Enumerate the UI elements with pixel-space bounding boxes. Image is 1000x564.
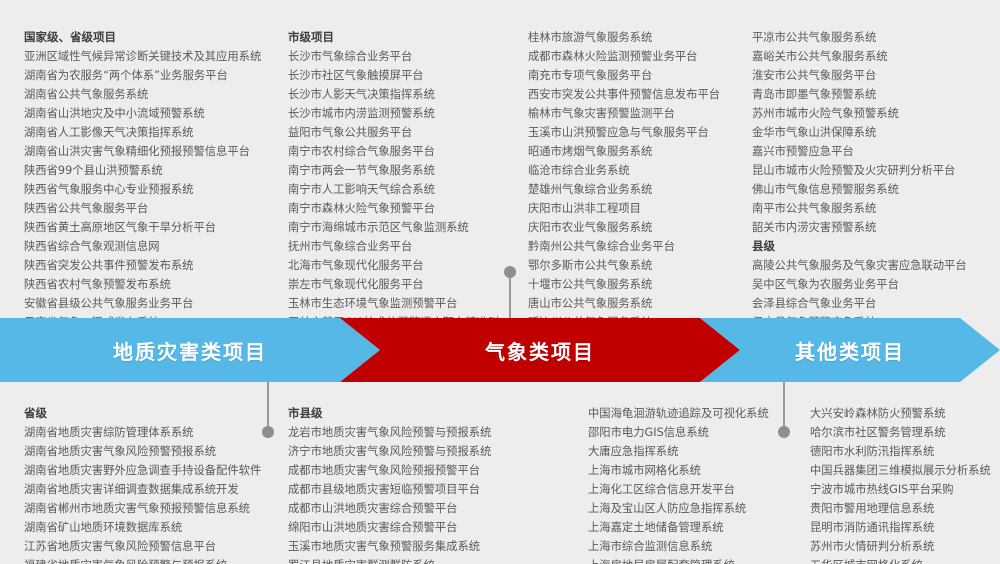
banner-segment-geological[interactable]: 地质灾害类项目 bbox=[0, 318, 380, 382]
list-item: 龙岩市地质灾害气象风险预警与预报系统 bbox=[288, 423, 554, 442]
list-item: 上海及宝山区人防应急指挥系统 bbox=[588, 499, 788, 518]
list-item: 南平市公共气象服务系统 bbox=[752, 199, 992, 218]
list-item: 庆阳市农业气象服务系统 bbox=[528, 218, 746, 237]
list-item: 淮安市公共气象服务平台 bbox=[752, 66, 992, 85]
list-item: 苏州市火情研判分析系统 bbox=[810, 537, 1000, 556]
list-item: 长沙市气象综合业务平台 bbox=[288, 47, 520, 66]
column-heading: 省级 bbox=[24, 404, 282, 423]
list-item: 青岛市即墨气象预警系统 bbox=[752, 85, 992, 104]
list-item: 玉溪市山洪预警应急与气象服务平台 bbox=[528, 123, 746, 142]
list-item: 楚雄州气象综合业务系统 bbox=[528, 180, 746, 199]
list-item: 湖南省人工影像天气决策指挥系统 bbox=[24, 123, 282, 142]
list-item: 会泽县综合气象业务平台 bbox=[752, 294, 992, 313]
list-item: 陕西省综合气象观测信息网 bbox=[24, 237, 282, 256]
list-item: 陕西省农村气象预警发布系统 bbox=[24, 275, 282, 294]
list-item: 玉溪市地质灾害气象预警服务集成系统 bbox=[288, 537, 554, 556]
connector-geological-bottom bbox=[262, 382, 274, 440]
list-item: 南宁市人工影响天气综合系统 bbox=[288, 180, 520, 199]
list-item: 高陵公共气象服务及气象灾害应急联动平台 bbox=[752, 256, 992, 275]
list-item: 韶关市内涝灾害预警系统 bbox=[752, 218, 992, 237]
list-item: 陕西省黄土高原地区气象干旱分析平台 bbox=[24, 218, 282, 237]
bottom-column-city-county: 市县级 龙岩市地质灾害气象风险预警与预报系统 济宁市地质灾害气象风险预警与预报系… bbox=[288, 404, 554, 564]
list-item: 陕西省99个县山洪预警系统 bbox=[24, 161, 282, 180]
list-item: 临沧市综合业务系统 bbox=[528, 161, 746, 180]
connector-dot bbox=[262, 426, 274, 438]
list-item: 南宁市森林火险气象预警平台 bbox=[288, 199, 520, 218]
list-item: 南宁市两会一节气象服务系统 bbox=[288, 161, 520, 180]
column-items: 湖南省地质灾害综防管理体系系统 湖南省地质灾害气象风险预警预报系统 湖南省地质灾… bbox=[24, 423, 282, 564]
list-item: 西安市突发公共事件预警信息发布平台 bbox=[528, 85, 746, 104]
banner-segment-meteorological[interactable]: 气象类项目 bbox=[340, 318, 740, 382]
list-item: 上海市综合监测信息系统 bbox=[588, 537, 788, 556]
infographic-root: 国家级、省级项目 亚洲区域性气候异常诊断关键技术及其应用系统 湖南省为农服务“两… bbox=[0, 0, 1000, 564]
list-item: 湖南省地质灾害详细调查数据集成系统开发 bbox=[24, 480, 282, 499]
list-item: 中国兵器集团三维模拟展示分析系统 bbox=[810, 461, 1000, 480]
list-item: 抚州市气象综合业务平台 bbox=[288, 237, 520, 256]
list-item: 玉林市生态环境气象监测预警平台 bbox=[288, 294, 520, 313]
list-item: 金华市气象山洪保障系统 bbox=[752, 123, 992, 142]
list-item: 贵阳市警用地理信息系统 bbox=[810, 499, 1000, 518]
list-item: 昆明市消防通讯指挥系统 bbox=[810, 518, 1000, 537]
list-item: 庆阳市山洪非工程项目 bbox=[528, 199, 746, 218]
banner-label: 其他类项目 bbox=[795, 336, 905, 365]
list-item: 长沙市城市内涝监测预警系统 bbox=[288, 104, 520, 123]
connector-dot bbox=[504, 266, 516, 278]
list-item: 江苏省地质灾害气象风险预警信息平台 bbox=[24, 537, 282, 556]
connector-stem bbox=[783, 382, 785, 430]
column-items: 平凉市公共气象服务系统 嘉峪关市公共气象服务系统 淮安市公共气象服务平台 青岛市… bbox=[752, 28, 992, 237]
list-item: 罗江县地质灾害群测群防系统 bbox=[288, 556, 554, 564]
list-item: 哈尔滨市社区警务管理系统 bbox=[810, 423, 1000, 442]
list-item: 湖南省山洪地灾及中小流域预警系统 bbox=[24, 104, 282, 123]
list-item: 湖南省郴州市地质灾害气象预报预警信息系统 bbox=[24, 499, 282, 518]
list-item: 亚洲区域性气候异常诊断关键技术及其应用系统 bbox=[24, 47, 282, 66]
list-item: 大庸应急指挥系统 bbox=[588, 442, 788, 461]
list-item: 南宁市海绵城市示范区气象监测系统 bbox=[288, 218, 520, 237]
list-item: 湖南省地质灾害野外应急调查手持设备配件软件 bbox=[24, 461, 282, 480]
list-item: 绵阳市山洪地质灾害综合预警平台 bbox=[288, 518, 554, 537]
list-item: 鄂尔多斯市公共气象系统 bbox=[528, 256, 746, 275]
list-item: 长沙市人影天气决策指挥系统 bbox=[288, 85, 520, 104]
connector-other-bottom bbox=[778, 382, 790, 440]
list-item: 德阳市水利防汛指挥系统 bbox=[810, 442, 1000, 461]
banner-label: 地质灾害类项目 bbox=[113, 336, 267, 365]
list-item: 湖南省地质灾害综防管理体系系统 bbox=[24, 423, 282, 442]
list-item: 长沙市社区气象触摸屏平台 bbox=[288, 66, 520, 85]
column-heading-county: 县级 bbox=[752, 237, 992, 256]
list-item: 济宁市地质灾害气象风险预警与预报系统 bbox=[288, 442, 554, 461]
column-items: 中国海龟洄游轨迹追踪及可视化系统 邵阳市电力GIS信息系统 大庸应急指挥系统 上… bbox=[588, 404, 788, 564]
top-lists-region: 国家级、省级项目 亚洲区域性气候异常诊断关键技术及其应用系统 湖南省为农服务“两… bbox=[0, 0, 1000, 312]
list-item: 榆林市气象灾害预警监测平台 bbox=[528, 104, 746, 123]
list-item: 益阳市气象公共服务平台 bbox=[288, 123, 520, 142]
list-item: 十堰市公共气象服务系统 bbox=[528, 275, 746, 294]
list-item: 北海市气象现代化服务平台 bbox=[288, 256, 520, 275]
list-item: 陕西省气象服务中心专业预报系统 bbox=[24, 180, 282, 199]
top-column-city-county: 平凉市公共气象服务系统 嘉峪关市公共气象服务系统 淮安市公共气象服务平台 青岛市… bbox=[752, 28, 992, 351]
list-item: 昭通市烤烟气象服务系统 bbox=[528, 142, 746, 161]
list-item: 上海嘉定土地储备管理系统 bbox=[588, 518, 788, 537]
column-items: 大兴安岭森林防火预警系统 哈尔滨市社区警务管理系统 德阳市水利防汛指挥系统 中国… bbox=[810, 404, 1000, 564]
list-item: 南充市专项气象服务平台 bbox=[528, 66, 746, 85]
list-item: 宁波市城市热线GIS平台采购 bbox=[810, 480, 1000, 499]
list-item: 成都市森林火险监测预警业务平台 bbox=[528, 47, 746, 66]
list-item: 上海市城市网格化系统 bbox=[588, 461, 788, 480]
list-item: 成都市地质灾害气象风险预报预警平台 bbox=[288, 461, 554, 480]
list-item: 安徽省县级公共气象服务业务平台 bbox=[24, 294, 282, 313]
list-item: 崇左市气象现代化服务平台 bbox=[288, 275, 520, 294]
list-item: 黔南州公共气象综合业务平台 bbox=[528, 237, 746, 256]
bottom-lists-region: 省级 湖南省地质灾害综防管理体系系统 湖南省地质灾害气象风险预警预报系统 湖南省… bbox=[0, 382, 1000, 564]
list-item: 桂林市旅游气象服务系统 bbox=[528, 28, 746, 47]
list-item: 佛山市气象信息预警服务系统 bbox=[752, 180, 992, 199]
column-heading: 国家级、省级项目 bbox=[24, 28, 282, 47]
list-item: 吴中区气象为农服务业务平台 bbox=[752, 275, 992, 294]
list-item: 嘉兴市预警应急平台 bbox=[752, 142, 992, 161]
list-item: 五华区城市网格化系统 bbox=[810, 556, 1000, 564]
list-item: 福建省地质灾害气象风险预警与预报系统 bbox=[24, 556, 282, 564]
list-item: 南宁市农村综合气象服务平台 bbox=[288, 142, 520, 161]
column-items: 龙岩市地质灾害气象风险预警与预报系统 济宁市地质灾害气象风险预警与预报系统 成都… bbox=[288, 423, 554, 564]
list-item: 湖南省矿山地质环境数据库系统 bbox=[24, 518, 282, 537]
column-heading: 市级项目 bbox=[288, 28, 520, 47]
list-item: 苏州市城市火险气象预警系统 bbox=[752, 104, 992, 123]
bottom-column-other-2: 大兴安岭森林防火预警系统 哈尔滨市社区警务管理系统 德阳市水利防汛指挥系统 中国… bbox=[810, 404, 1000, 564]
bottom-column-other-1: 中国海龟洄游轨迹追踪及可视化系统 邵阳市电力GIS信息系统 大庸应急指挥系统 上… bbox=[588, 404, 788, 564]
category-banner: 地质灾害类项目 气象类项目 其他类项目 bbox=[0, 318, 1000, 382]
list-item: 中国海龟洄游轨迹追踪及可视化系统 bbox=[588, 404, 788, 423]
list-item: 上海房地局房屋配套管理系统 bbox=[588, 556, 788, 564]
list-item: 湖南省地质灾害气象风险预警预报系统 bbox=[24, 442, 282, 461]
list-item: 陕西省公共气象服务平台 bbox=[24, 199, 282, 218]
banner-label: 气象类项目 bbox=[485, 336, 595, 365]
list-item: 唐山市公共气象服务系统 bbox=[528, 294, 746, 313]
connector-meteorological-top bbox=[504, 266, 516, 318]
banner-segment-other[interactable]: 其他类项目 bbox=[700, 318, 1000, 382]
column-heading: 市县级 bbox=[288, 404, 554, 423]
list-item: 湖南省山洪灾害气象精细化预报预警信息平台 bbox=[24, 142, 282, 161]
connector-stem bbox=[267, 382, 269, 430]
list-item: 大兴安岭森林防火预警系统 bbox=[810, 404, 1000, 423]
connector-dot bbox=[778, 426, 790, 438]
list-item: 湖南省为农服务“两个体系”业务服务平台 bbox=[24, 66, 282, 85]
bottom-column-provincial: 省级 湖南省地质灾害综防管理体系系统 湖南省地质灾害气象风险预警预报系统 湖南省… bbox=[24, 404, 282, 564]
connector-stem bbox=[509, 272, 511, 320]
list-item: 平凉市公共气象服务系统 bbox=[752, 28, 992, 47]
list-item: 昆山市城市火险预警及火灾研判分析平台 bbox=[752, 161, 992, 180]
list-item: 成都市山洪地质灾害综合预警平台 bbox=[288, 499, 554, 518]
list-item: 嘉峪关市公共气象服务系统 bbox=[752, 47, 992, 66]
list-item: 湖南省公共气象服务系统 bbox=[24, 85, 282, 104]
list-item: 陕西省突发公共事件预警发布系统 bbox=[24, 256, 282, 275]
list-item: 上海化工区综合信息开发平台 bbox=[588, 480, 788, 499]
list-item: 成都市县级地质灾害短临预警项目平台 bbox=[288, 480, 554, 499]
list-item: 邵阳市电力GIS信息系统 bbox=[588, 423, 788, 442]
